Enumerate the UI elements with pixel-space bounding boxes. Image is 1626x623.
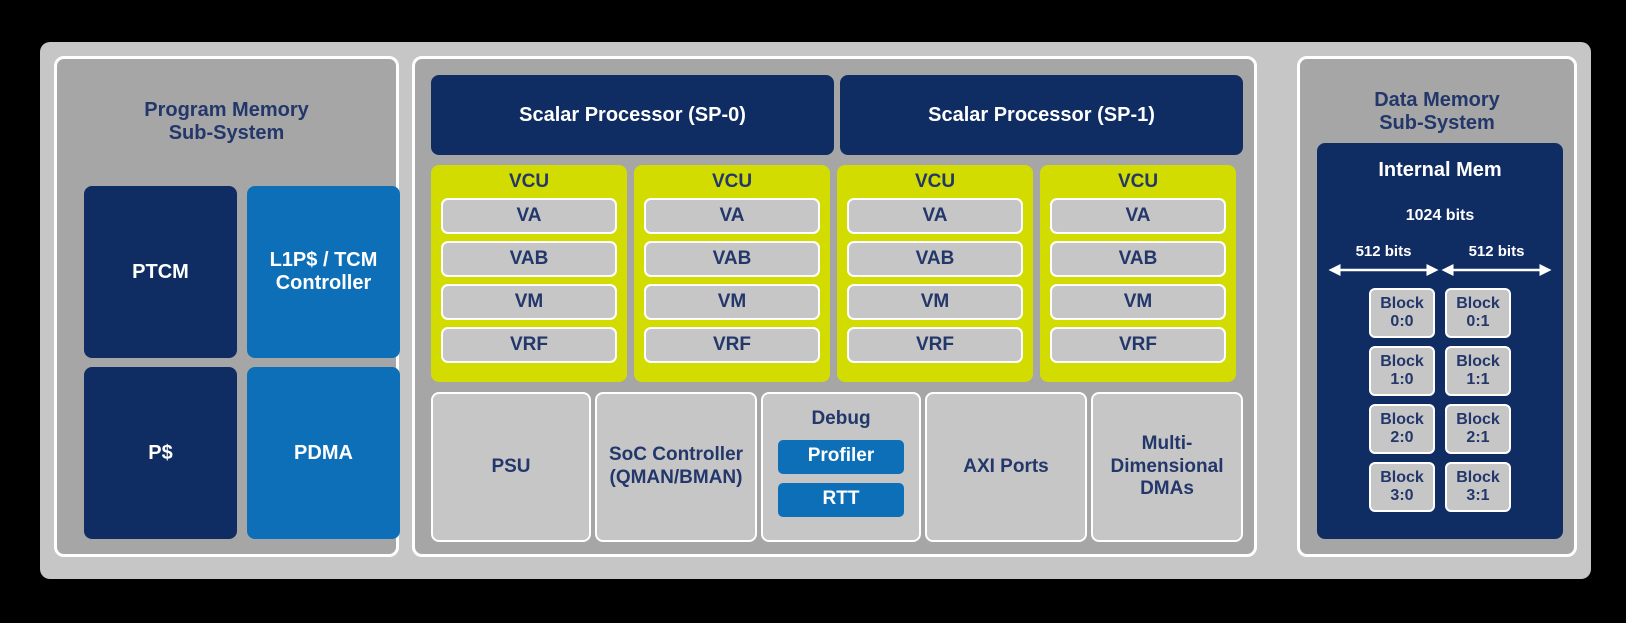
block-internal-mem[interactable]: Internal Mem 1024 bits 512 bits 512 bits — [1317, 143, 1563, 539]
block-ptcm[interactable]: PTCM — [84, 186, 237, 358]
vcu-1-unit-vab[interactable]: VAB — [644, 241, 820, 277]
mem-block-2-0[interactable]: Block 2:0 — [1369, 404, 1435, 454]
vcu-2-unit-vab[interactable]: VAB — [847, 241, 1023, 277]
vcu-1-title: VCU — [634, 165, 830, 191]
internal-mem-half-width-labels: 512 bits 512 bits — [1317, 225, 1563, 260]
left-double-arrow-icon — [1327, 262, 1440, 278]
vcu-0[interactable]: VCU VA VAB VM VRF — [431, 165, 627, 382]
vcu-2-unit-va[interactable]: VA — [847, 198, 1023, 234]
right-double-arrow-icon — [1440, 262, 1553, 278]
block-multi-dimensional-dmas[interactable]: Multi- Dimensional DMAs — [1091, 392, 1243, 542]
vcu-0-unit-vab[interactable]: VAB — [441, 241, 617, 277]
internal-mem-right-width-label: 512 bits — [1440, 243, 1553, 260]
internal-mem-half-width-arrows — [1317, 260, 1563, 278]
vcu-3-unit-vab[interactable]: VAB — [1050, 241, 1226, 277]
vcu-3-unit-vrf[interactable]: VRF — [1050, 327, 1226, 363]
vcu-3-unit-vm[interactable]: VM — [1050, 284, 1226, 320]
vcu-2-unit-vrf[interactable]: VRF — [847, 327, 1023, 363]
mem-block-3-1[interactable]: Block 3:1 — [1445, 462, 1511, 512]
block-pdma[interactable]: PDMA — [247, 367, 400, 539]
vcu-3-unit-va[interactable]: VA — [1050, 198, 1226, 234]
internal-mem-left-width-label: 512 bits — [1327, 243, 1440, 260]
vcu-0-unit-vm[interactable]: VM — [441, 284, 617, 320]
vcu-2[interactable]: VCU VA VAB VM VRF — [837, 165, 1033, 382]
block-l1p-tcm-controller[interactable]: L1P$ / TCM Controller — [247, 186, 400, 358]
data-memory-subsystem-panel: Data Memory Sub-System Internal Mem 1024… — [1297, 56, 1577, 557]
block-axi-ports-label: AXI Ports — [963, 456, 1049, 479]
internal-mem-total-width-label: 1024 bits — [1317, 182, 1563, 225]
vcu-0-unit-va[interactable]: VA — [441, 198, 617, 234]
block-soc-controller-label: SoC Controller (QMAN/BMAN) — [609, 444, 743, 490]
block-psu[interactable]: PSU — [431, 392, 591, 542]
vcu-3-title: VCU — [1040, 165, 1236, 191]
block-multi-dimensional-dmas-label: Multi- Dimensional DMAs — [1111, 433, 1224, 501]
mem-block-1-1[interactable]: Block 1:1 — [1445, 346, 1511, 396]
vcu-0-title: VCU — [431, 165, 627, 191]
block-debug-profiler[interactable]: Profiler — [778, 440, 904, 474]
mem-block-1-0[interactable]: Block 1:0 — [1369, 346, 1435, 396]
block-debug-rtt[interactable]: RTT — [778, 483, 904, 517]
core-panel: Scalar Processor (SP-0) Scalar Processor… — [412, 56, 1257, 557]
block-scalar-processor-0[interactable]: Scalar Processor (SP-0) — [431, 75, 834, 155]
mem-block-2-1[interactable]: Block 2:1 — [1445, 404, 1511, 454]
vcu-2-title: VCU — [837, 165, 1033, 191]
internal-mem-block-grid: Block 0:0 Block 0:1 Block 1:0 Block 1:1 … — [1317, 278, 1563, 512]
vcu-2-unit-vm[interactable]: VM — [847, 284, 1023, 320]
internal-mem-title: Internal Mem — [1317, 143, 1563, 182]
vcu-1-unit-vrf[interactable]: VRF — [644, 327, 820, 363]
vcu-1-unit-va[interactable]: VA — [644, 198, 820, 234]
block-debug-label: Debug — [811, 408, 870, 431]
program-memory-subsystem-panel: Program Memory Sub-System PTCM L1P$ / TC… — [54, 56, 399, 557]
mem-block-0-1[interactable]: Block 0:1 — [1445, 288, 1511, 338]
block-p-cache[interactable]: P$ — [84, 367, 237, 539]
program-memory-subsystem-title: Program Memory Sub-System — [57, 99, 396, 145]
chip-frame: Program Memory Sub-System PTCM L1P$ / TC… — [40, 42, 1591, 579]
block-psu-label: PSU — [491, 456, 530, 479]
vcu-1-unit-vm[interactable]: VM — [644, 284, 820, 320]
block-debug[interactable]: Debug Profiler RTT — [761, 392, 921, 542]
block-axi-ports[interactable]: AXI Ports — [925, 392, 1087, 542]
block-scalar-processor-1[interactable]: Scalar Processor (SP-1) — [840, 75, 1243, 155]
vcu-0-unit-vrf[interactable]: VRF — [441, 327, 617, 363]
block-soc-controller[interactable]: SoC Controller (QMAN/BMAN) — [595, 392, 757, 542]
data-memory-subsystem-title: Data Memory Sub-System — [1300, 89, 1574, 135]
mem-block-3-0[interactable]: Block 3:0 — [1369, 462, 1435, 512]
mem-block-0-0[interactable]: Block 0:0 — [1369, 288, 1435, 338]
vcu-3[interactable]: VCU VA VAB VM VRF — [1040, 165, 1236, 382]
vcu-1[interactable]: VCU VA VAB VM VRF — [634, 165, 830, 382]
